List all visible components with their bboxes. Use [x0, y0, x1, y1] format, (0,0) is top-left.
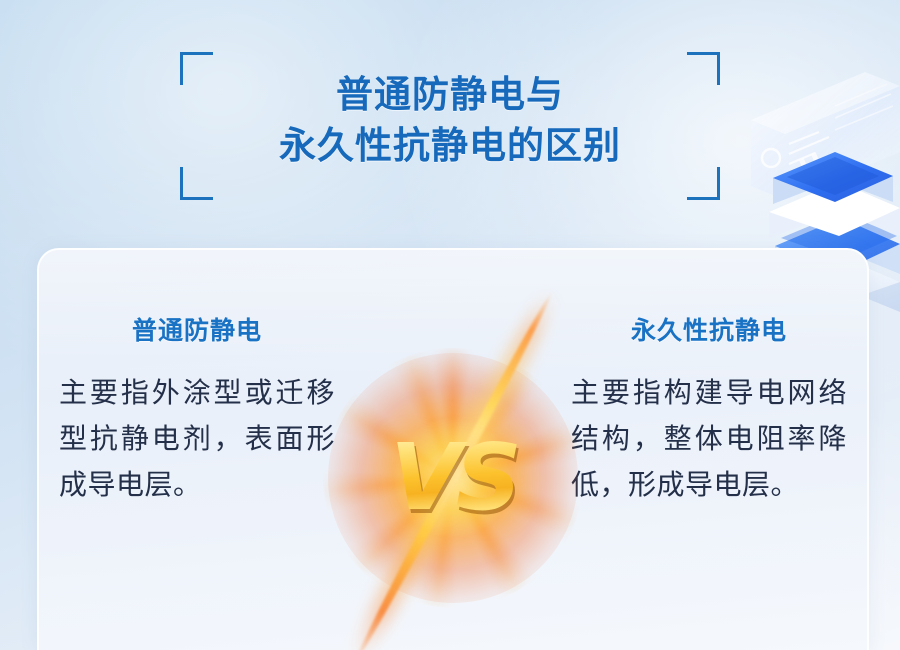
- column-body-permanent: 主要指构建导电网络结构，整体电阻率降低，形成导电层。: [571, 370, 847, 508]
- comparison-column-ordinary: 普通防静电 主要指外涂型或迁移型抗静电剂，表面形成导电层。: [39, 250, 453, 650]
- title-line-1: 普通防静电与: [180, 69, 720, 120]
- title-block: 普通防静电与 永久性抗静电的区别: [180, 52, 720, 200]
- corner-bracket-bottom-left-icon: [180, 167, 213, 200]
- comparison-column-permanent: 永久性抗静电 主要指构建导电网络结构，整体电阻率降低，形成导电层。: [453, 250, 867, 650]
- corner-bracket-bottom-right-icon: [687, 167, 720, 200]
- page-title: 普通防静电与 永久性抗静电的区别: [180, 69, 720, 171]
- poster-root: 普通防静电与 永久性抗静电的区别 普通防静电 主要指外涂型或迁移型抗静电剂，表面…: [0, 0, 900, 650]
- column-heading-permanent: 永久性抗静电: [571, 316, 847, 346]
- column-body-ordinary: 主要指外涂型或迁移型抗静电剂，表面形成导电层。: [59, 370, 335, 508]
- comparison-card: 普通防静电 主要指外涂型或迁移型抗静电剂，表面形成导电层。 永久性抗静电 主要指…: [37, 248, 869, 650]
- title-line-2: 永久性抗静电的区别: [180, 120, 720, 171]
- column-heading-ordinary: 普通防静电: [59, 316, 335, 346]
- comparison-columns: 普通防静电 主要指外涂型或迁移型抗静电剂，表面形成导电层。 永久性抗静电 主要指…: [39, 250, 867, 650]
